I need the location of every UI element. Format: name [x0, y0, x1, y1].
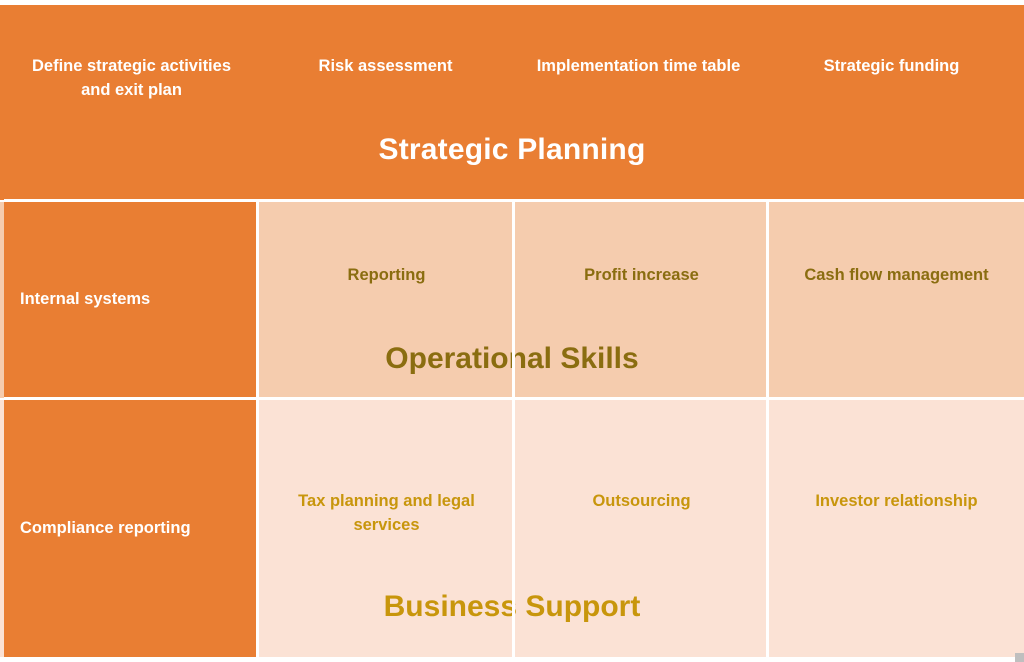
resize-handle-icon[interactable]: [1015, 653, 1024, 662]
cell-investor-relationship[interactable]: Investor relationship: [769, 400, 1024, 600]
row-operational-skills-cells: Reporting Profit increase Cash flow mana…: [259, 202, 1024, 352]
row-strategic-planning-cells: Define strategic activities and exit pla…: [4, 5, 1024, 125]
column-divider-1: [256, 202, 259, 657]
cell-label: Define strategic activities and exit pla…: [22, 55, 242, 103]
column-divider-2: [512, 202, 515, 657]
capability-matrix: Define strategic activities and exit pla…: [0, 0, 1024, 662]
row-title-strategic-planning: Strategic Planning: [0, 133, 1024, 167]
cell-label: Reporting: [348, 264, 426, 288]
cell-outsourcing[interactable]: Outsourcing: [514, 400, 769, 600]
cell-strategic-funding[interactable]: Strategic funding: [765, 5, 1018, 125]
cell-label: Internal systems: [20, 288, 150, 311]
cell-tax-planning-and-legal-services[interactable]: Tax planning and legal services: [259, 400, 514, 600]
cell-label: Investor relationship: [815, 490, 977, 514]
cell-label: Profit increase: [584, 264, 699, 288]
cell-implementation-time-table[interactable]: Implementation time table: [512, 5, 765, 125]
cell-reporting[interactable]: Reporting: [259, 202, 514, 352]
cell-risk-assessment[interactable]: Risk assessment: [259, 5, 512, 125]
cell-label: Cash flow management: [804, 264, 988, 288]
cell-define-strategic-activities[interactable]: Define strategic activities and exit pla…: [4, 5, 259, 125]
cell-cash-flow-management[interactable]: Cash flow management: [769, 202, 1024, 352]
cell-label: Outsourcing: [592, 490, 690, 514]
cell-label: Implementation time table: [537, 55, 741, 79]
row-strategic-planning: Define strategic activities and exit pla…: [0, 5, 1024, 200]
column-divider-3: [766, 202, 769, 657]
cell-label: Strategic funding: [824, 55, 960, 79]
cell-profit-increase[interactable]: Profit increase: [514, 202, 769, 352]
row-business-support-cells: Tax planning and legal services Outsourc…: [259, 400, 1024, 600]
cell-label: Risk assessment: [319, 55, 453, 79]
cell-label: Tax planning and legal services: [272, 490, 502, 538]
cell-label: Compliance reporting: [20, 517, 191, 540]
